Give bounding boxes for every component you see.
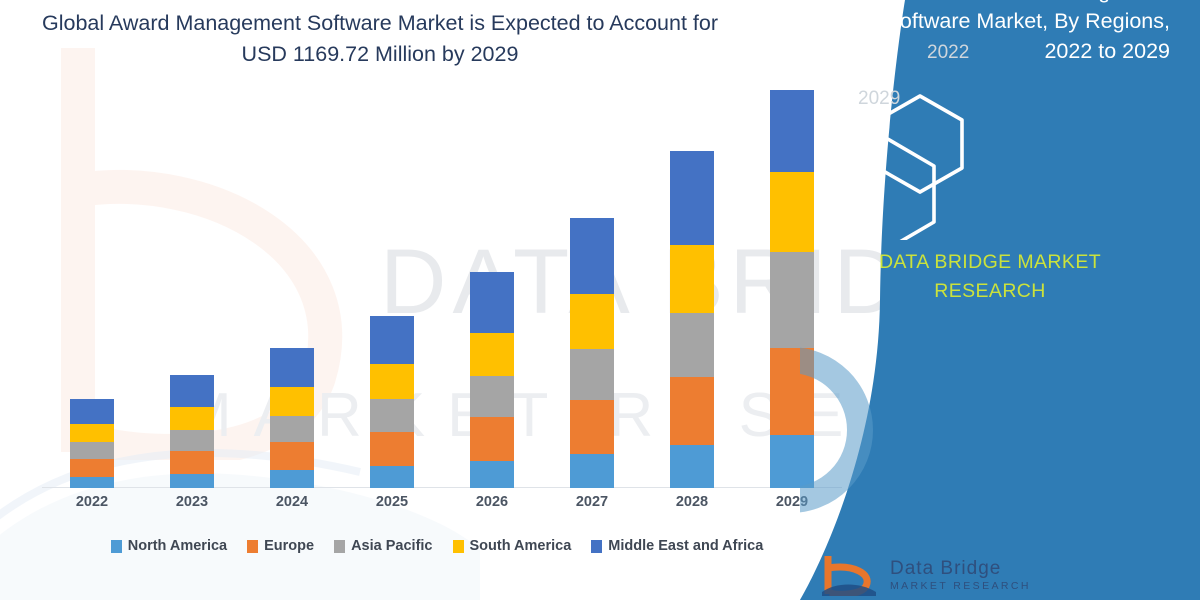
page-title: Global Award Management Software Market … <box>40 8 720 70</box>
bar-segment[interactable] <box>470 333 514 377</box>
x-axis-label: 2027 <box>542 494 642 510</box>
legend-label: Europe <box>264 538 314 554</box>
legend-item[interactable]: Middle East and Africa <box>591 538 763 554</box>
legend-label: Middle East and Africa <box>608 538 763 554</box>
bar-segment[interactable] <box>270 387 314 415</box>
x-axis-label: 2026 <box>442 494 542 510</box>
bar-group <box>42 90 142 488</box>
bar-segment[interactable] <box>470 376 514 417</box>
x-axis-label: 2022 <box>42 494 142 510</box>
legend-label: North America <box>128 538 227 554</box>
bar-segment[interactable] <box>70 477 114 488</box>
bar-segment[interactable] <box>470 461 514 488</box>
bar-segment[interactable] <box>470 272 514 333</box>
bar-segment[interactable] <box>570 294 614 348</box>
stacked-bar[interactable] <box>570 218 614 488</box>
bar-group <box>642 90 742 488</box>
bar-group <box>342 90 442 488</box>
bar-segment[interactable] <box>570 349 614 400</box>
bar-segment[interactable] <box>170 430 214 451</box>
brand-line-1: DATA BRIDGE MARKET <box>810 248 1170 277</box>
footer-logo: Data Bridge MARKET RESEARCH <box>820 552 1150 598</box>
bar-segment[interactable] <box>270 470 314 488</box>
bar-group <box>142 90 242 488</box>
x-axis-label: 2024 <box>242 494 342 510</box>
footer-logo-sub: MARKET RESEARCH <box>890 580 1031 592</box>
right-info-panel: Global Award Management Software Market,… <box>800 0 1200 600</box>
brand-name: DATA BRIDGE MARKET RESEARCH <box>810 248 1170 306</box>
brand-line-2: RESEARCH <box>810 277 1170 306</box>
bar-segment[interactable] <box>70 424 114 442</box>
stacked-bar[interactable] <box>370 316 414 488</box>
hexagon-label-2029: 2029 <box>858 88 900 110</box>
footer-logo-icon <box>820 552 880 596</box>
bar-segment[interactable] <box>270 442 314 470</box>
stacked-bar[interactable] <box>70 399 114 488</box>
footer-logo-name: Data Bridge <box>890 558 1001 580</box>
legend-swatch <box>111 540 122 553</box>
bar-segment[interactable] <box>270 348 314 387</box>
bar-segment[interactable] <box>70 459 114 477</box>
stacked-bar[interactable] <box>470 272 514 488</box>
bar-segment[interactable] <box>570 400 614 454</box>
bar-group <box>442 90 542 488</box>
legend-swatch <box>247 540 258 553</box>
bar-segment[interactable] <box>170 375 214 407</box>
bar-segment[interactable] <box>370 364 414 399</box>
bar-segment[interactable] <box>270 416 314 443</box>
legend-item[interactable]: Europe <box>247 538 314 554</box>
legend-swatch <box>591 540 602 553</box>
legend-swatch <box>334 540 345 553</box>
bar-group <box>242 90 342 488</box>
hexagon-label-2022: 2022 <box>927 42 969 64</box>
chart-legend: North AmericaEuropeAsia PacificSouth Ame… <box>42 538 832 554</box>
bar-segment[interactable] <box>670 313 714 377</box>
stacked-bar[interactable] <box>270 348 314 488</box>
legend-label: South America <box>470 538 572 554</box>
bar-group <box>542 90 642 488</box>
bar-segment[interactable] <box>70 442 114 459</box>
legend-swatch <box>453 540 464 553</box>
bar-segment[interactable] <box>670 445 714 488</box>
bar-segment[interactable] <box>670 377 714 445</box>
bar-segment[interactable] <box>370 316 414 364</box>
bar-segment[interactable] <box>170 407 214 430</box>
stacked-bar[interactable] <box>670 151 714 488</box>
bar-segment[interactable] <box>570 218 614 294</box>
legend-item[interactable]: Asia Pacific <box>334 538 432 554</box>
x-axis-label: 2028 <box>642 494 742 510</box>
bar-segment[interactable] <box>370 466 414 488</box>
x-axis-label: 2025 <box>342 494 442 510</box>
bar-segment[interactable] <box>670 245 714 313</box>
bar-segment[interactable] <box>70 399 114 424</box>
bar-segment[interactable] <box>670 151 714 246</box>
bar-segment[interactable] <box>370 399 414 432</box>
chart-panel: DATA BRIDGE MARKET RESEARCH Global Award… <box>0 0 905 600</box>
bar-segment[interactable] <box>370 432 414 467</box>
stacked-bar-chart: 20222023202420252026202720282029 <box>42 90 842 488</box>
legend-item[interactable]: South America <box>453 538 572 554</box>
bar-segment[interactable] <box>470 417 514 461</box>
right-panel-title: Global Award Management Software Market,… <box>840 0 1170 66</box>
legend-label: Asia Pacific <box>351 538 432 554</box>
bar-segment[interactable] <box>570 454 614 488</box>
x-axis-label: 2023 <box>142 494 242 510</box>
stacked-bar[interactable] <box>170 375 214 488</box>
legend-item[interactable]: North America <box>111 538 227 554</box>
bar-segment[interactable] <box>170 474 214 488</box>
bar-segment[interactable] <box>170 451 214 474</box>
